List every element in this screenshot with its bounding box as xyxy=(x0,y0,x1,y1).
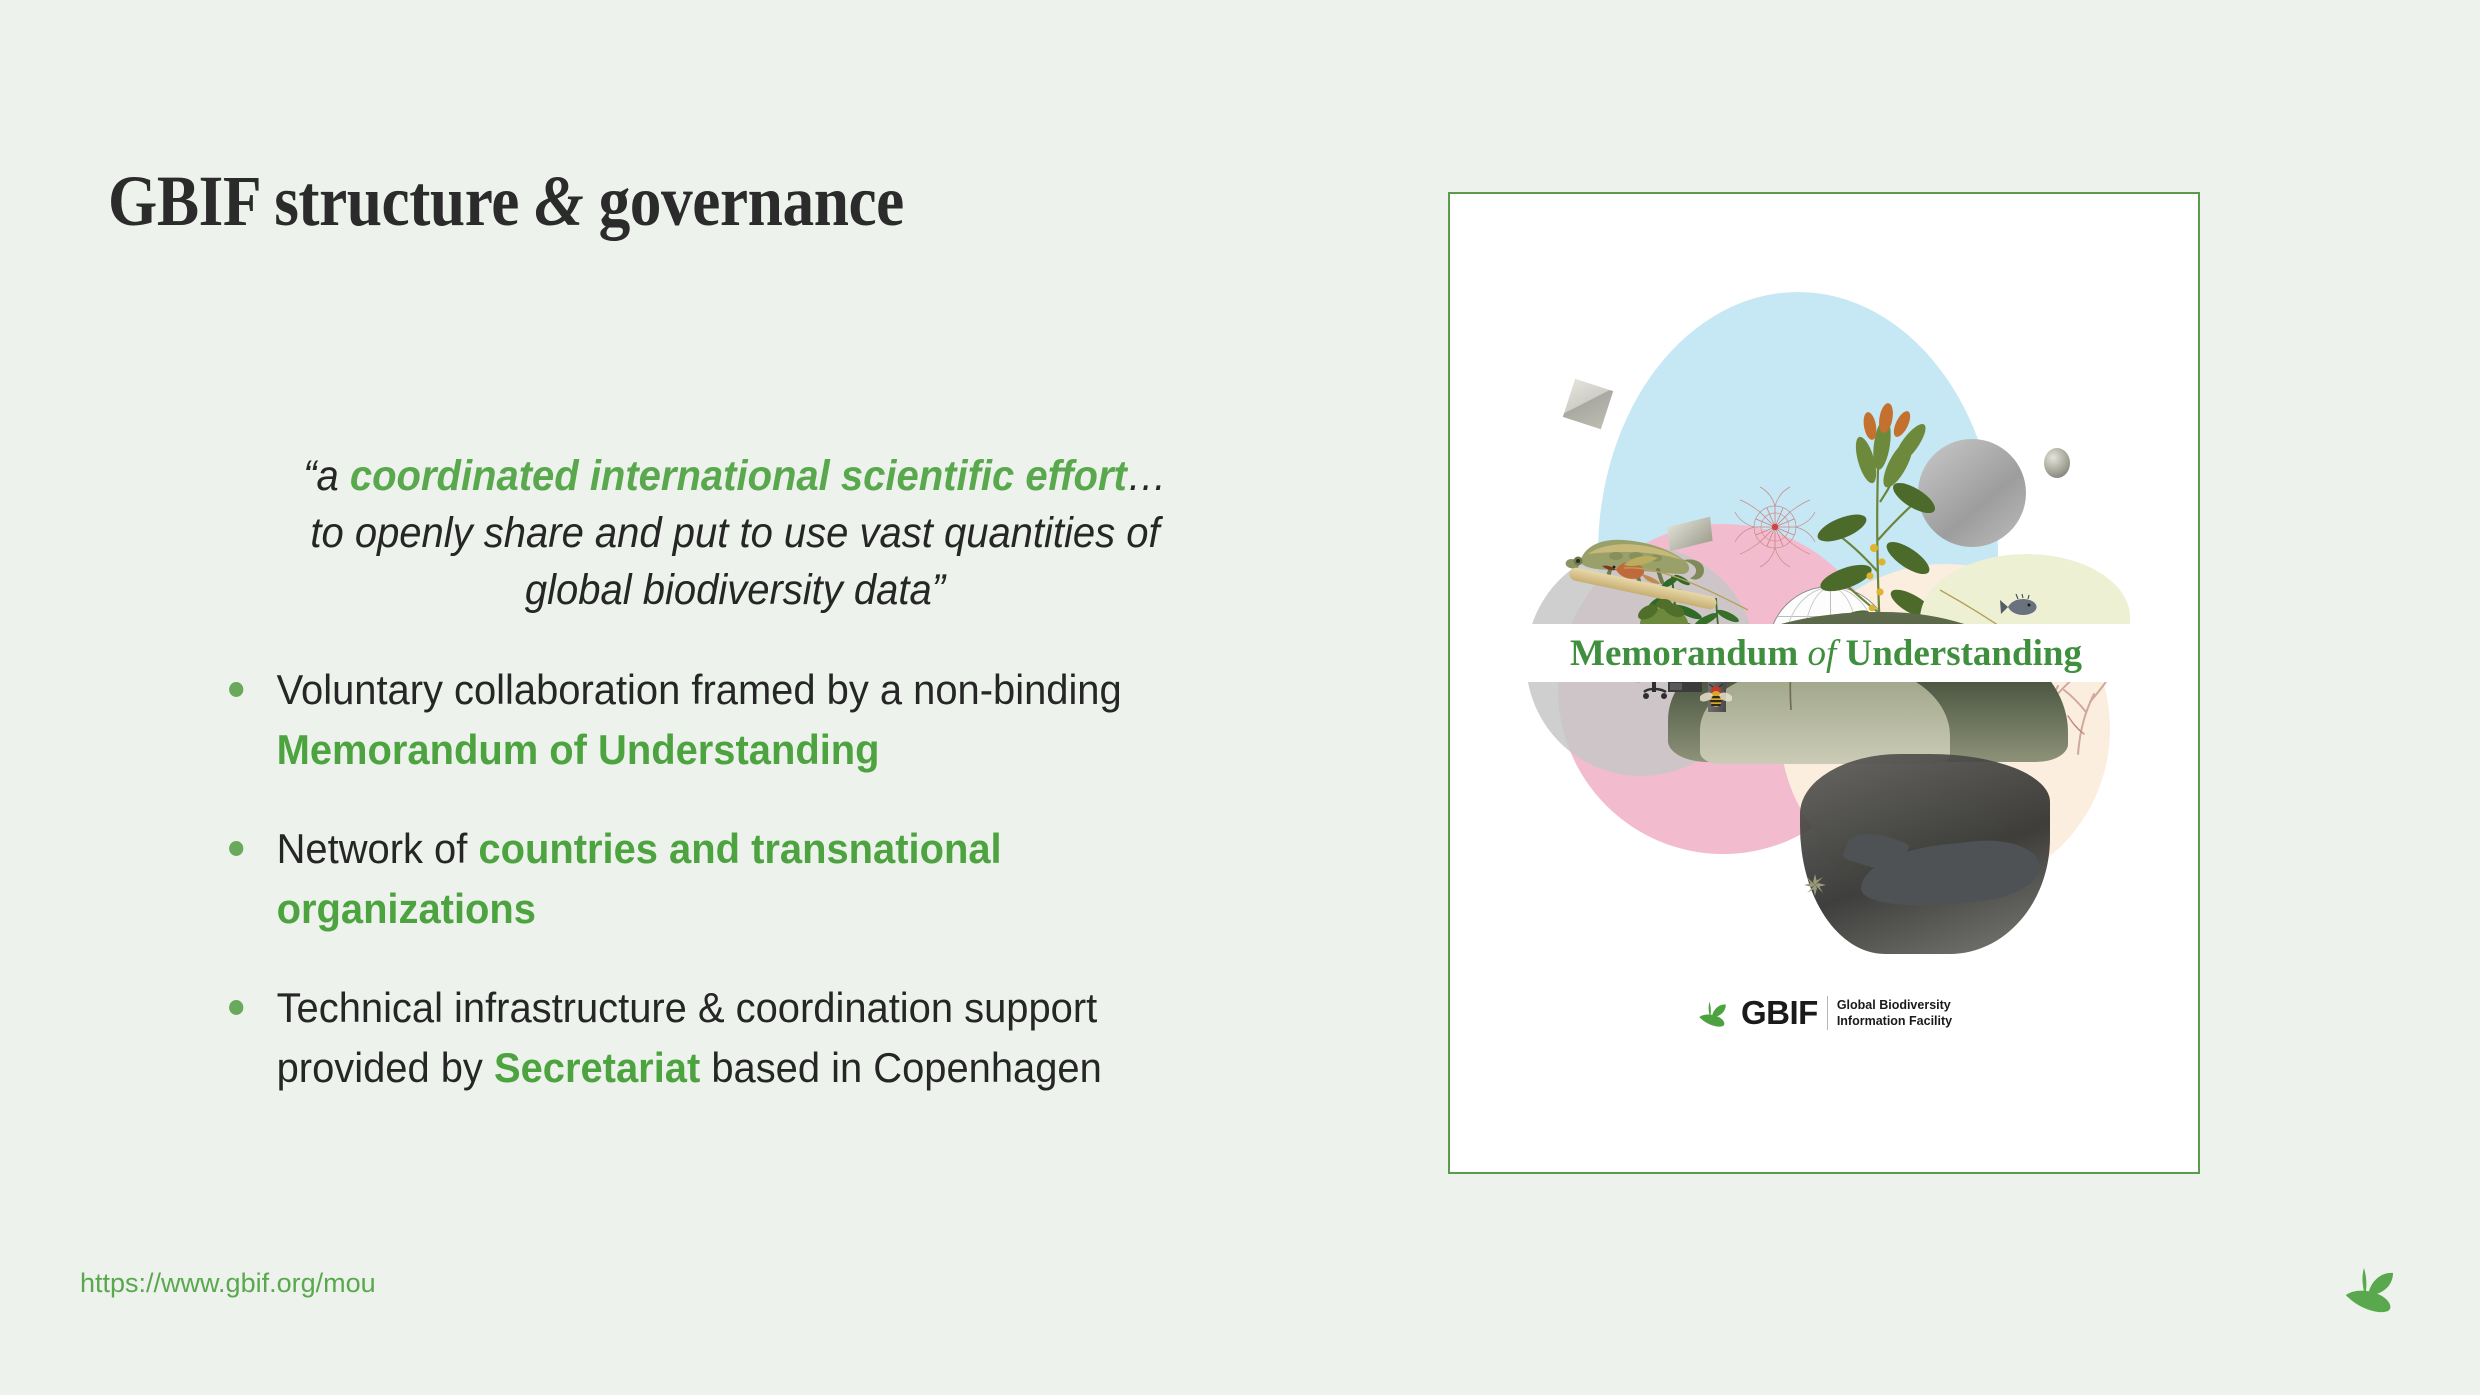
gbif-tagline-line-2: Information Facility xyxy=(1837,1013,1952,1030)
bullet-text-pre: Network of xyxy=(277,825,479,872)
page-title-main: GBIF structure xyxy=(108,161,534,241)
bullet-list: Voluntary collaboration framed by a non-… xyxy=(212,660,1272,1137)
logo-divider xyxy=(1827,996,1828,1030)
document-title-post: Understanding xyxy=(1836,633,2082,674)
gbif-tagline: Global Biodiversity Information Facility xyxy=(1837,997,1952,1030)
bullet-text-highlight: Secretariat xyxy=(494,1044,700,1091)
quote-open: “a xyxy=(303,452,350,500)
gbif-logo: GBIF Global Biodiversity Information Fac… xyxy=(1696,994,1952,1032)
gbif-wordmark: GBIF xyxy=(1741,994,1818,1032)
bullet-text-highlight: Memorandum of Understanding xyxy=(277,726,880,773)
mission-quote: “a coordinated international scientific … xyxy=(275,448,1196,618)
page-title-tail: governance xyxy=(583,161,904,241)
floating-cube-prop xyxy=(1563,379,1613,429)
quote-line-3: global biodiversity data” xyxy=(525,566,945,614)
bullet-text-post: based in Copenhagen xyxy=(700,1044,1102,1091)
list-item: Voluntary collaboration framed by a non-… xyxy=(212,660,1219,781)
list-item: Technical infrastructure & coordination … xyxy=(212,978,1219,1099)
tendril-line xyxy=(1622,560,1752,620)
quote-highlight: coordinated international scientific eff… xyxy=(350,452,1127,500)
page-title-ampersand: & xyxy=(534,161,583,241)
source-url-link[interactable]: https://www.gbif.org/mou xyxy=(80,1268,376,1299)
mou-document-card[interactable]: Memorandum of Understanding GBIF Global … xyxy=(1448,192,2200,1174)
bullet-dot-icon xyxy=(229,841,243,856)
bullet-dot-icon xyxy=(229,1000,243,1015)
gbif-tagline-line-1: Global Biodiversity xyxy=(1837,997,1952,1014)
page-title: GBIF structure & governance xyxy=(108,165,904,237)
gbif-leaf-icon xyxy=(1696,996,1732,1030)
document-title-italic: of xyxy=(1807,633,1836,674)
document-title: Memorandum of Understanding xyxy=(1570,632,2082,675)
floating-sphere-prop xyxy=(2044,448,2070,478)
slide-canvas: GBIF structure & governance “a coordinat… xyxy=(0,0,2480,1395)
biodiversity-collage-artwork xyxy=(1450,194,2200,1014)
bullet-text-pre: Voluntary collaboration framed by a non-… xyxy=(277,666,1122,713)
star-seed-prop xyxy=(1804,874,1826,896)
quote-ellipsis: … xyxy=(1127,452,1167,500)
leaf-sprout-icon xyxy=(2340,1258,2404,1318)
document-title-band: Memorandum of Understanding xyxy=(1450,624,2200,682)
bullet-dot-icon xyxy=(229,682,243,697)
document-title-pre: Memorandum xyxy=(1570,633,1807,674)
quote-line-2: to openly share and put to use vast quan… xyxy=(310,509,1159,557)
list-item: Network of countries and transnational o… xyxy=(212,819,1219,940)
bee-illustration xyxy=(1700,684,1732,710)
